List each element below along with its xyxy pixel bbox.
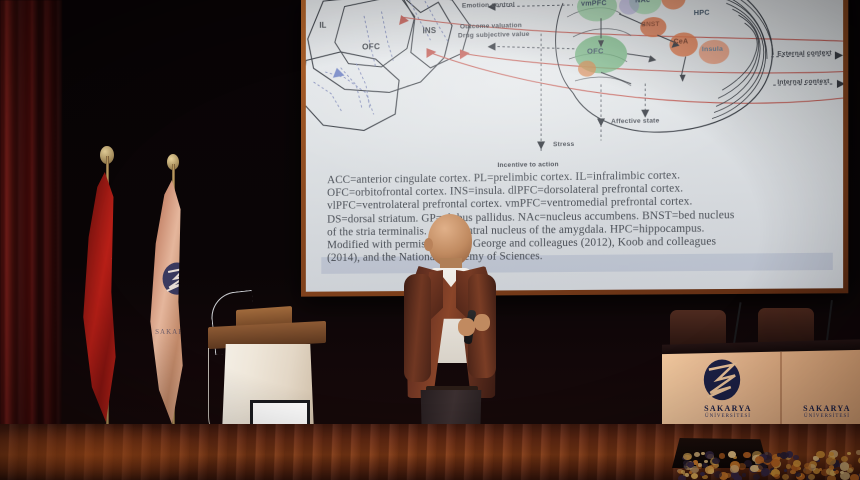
diagram-svg: [306, 0, 843, 177]
diagram-annotation-stress: Stress: [553, 141, 574, 148]
diagram-label-il: IL: [319, 21, 326, 30]
diagram-label-nac: NAc: [635, 0, 650, 4]
table-university-name: SAKARYA: [676, 404, 780, 413]
panel-table-seam: [780, 352, 782, 434]
speaker-hand-left: [458, 318, 475, 336]
diagram-label-cea: CeA: [674, 38, 689, 45]
table-university-subtitle: ÜNİVERSİTESİ: [676, 414, 780, 419]
panel-table: SAKARYA ÜNİVERSİTESİ SAKARYA ÜNİVERSİTES…: [662, 304, 860, 434]
brain-circuit-diagram: IL OFC INS Action inhibition Emotion con…: [306, 0, 843, 177]
table-university-name-2: SAKARYA: [790, 404, 860, 413]
stage-light-glow: [0, 416, 300, 480]
university-flag: SAKARYA: [142, 150, 204, 440]
diagram-annotation-affective-state: Affective state: [611, 117, 659, 125]
diagram-annotation-internal-context: Internal context: [777, 78, 829, 86]
flag-university-text: SAKARYA: [152, 328, 198, 336]
speaker-hand-right: [474, 314, 490, 331]
speaker-arm-left: [404, 274, 431, 382]
diagram-label-ins: INS: [423, 26, 437, 35]
table-university-subtitle-2: ÜNİVERSİTESİ: [790, 414, 860, 419]
projection-screen-frame: IL OFC INS Action inhibition Emotion con…: [301, 0, 848, 297]
diagram-label-bnst: BNST: [641, 21, 659, 28]
sakarya-logo-icon-flag: [160, 262, 194, 302]
speaker-ear: [424, 238, 433, 251]
crescent-icon: [90, 256, 124, 290]
diagram-label-ofc-left: OFC: [362, 41, 380, 51]
diagram-label-hpc: HPC: [694, 8, 710, 17]
table-microphone-icon-1: [732, 302, 741, 348]
diagram-label-vmpfc: vmPFC: [581, 0, 607, 8]
diagram-annotation-emotion-control: Emotion control: [462, 1, 515, 9]
turkish-flag: [76, 148, 138, 438]
diagram-annotation-outcome-valuation: Outcome valuation: [460, 22, 522, 30]
diagram-label-insula: Insula: [702, 46, 723, 54]
stage-scene: IL OFC INS Action inhibition Emotion con…: [0, 0, 860, 480]
stage-flowers: [676, 450, 860, 480]
star-icon: [115, 287, 127, 299]
turkish-flag-cloth: [80, 172, 134, 422]
diagram-annotation-incentive-to-action: Incentive to action: [497, 161, 558, 169]
panel-chair-1: [670, 310, 726, 346]
diagram-annotation-external-context: External context: [777, 49, 831, 57]
stage-curtain-left: [0, 0, 62, 452]
projection-screen-surface: IL OFC INS Action inhibition Emotion con…: [306, 0, 843, 292]
diagram-label-ofc-right: OFC: [587, 46, 604, 55]
sakarya-logo-icon-table: [700, 358, 744, 406]
university-flag-cloth: SAKARYA: [146, 180, 200, 424]
